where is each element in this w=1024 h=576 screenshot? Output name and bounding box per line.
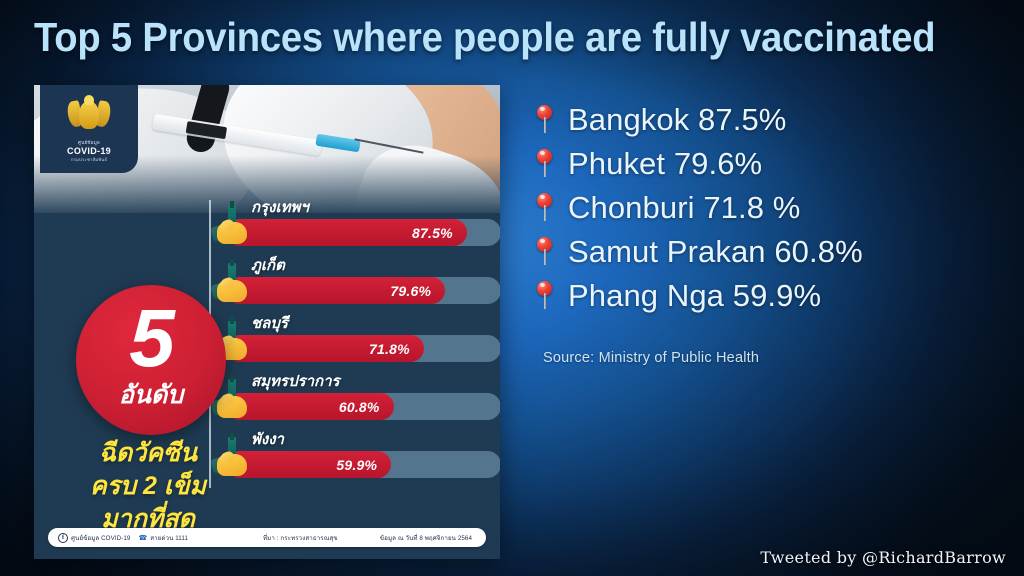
footer-hotline: สายด่วน 1111 (150, 533, 188, 543)
hand-syringe-icon (215, 205, 249, 249)
bar-value-label: 71.8% (369, 341, 424, 357)
bar-row: ภูเก็ต 79.6% (219, 255, 500, 313)
bar-row: สมุทรปราการ 60.8% (219, 371, 500, 429)
watermark-credit: Tweeted by @RichardBarrow (760, 548, 1006, 567)
list-item: Samut Prakan 60.8% (533, 230, 1013, 274)
round-pushpin-icon (533, 191, 559, 225)
list-item: Chonburi 71.8 % (533, 186, 1013, 230)
round-pushpin-icon (533, 147, 559, 181)
bar-category-label: กรุงเทพฯ (251, 195, 309, 219)
garuda-emblem-icon (68, 95, 110, 137)
bar-track: 79.6% (227, 277, 500, 304)
bar-fill: 59.9% (227, 451, 391, 478)
round-pushpin-icon (533, 103, 559, 137)
source-note: Source: Ministry of Public Health (543, 350, 759, 366)
bar-value-label: 87.5% (412, 225, 467, 241)
headline-line-2: ครบ 2 เข็ม (60, 470, 236, 503)
list-item-label: Phuket 79.6% (568, 146, 762, 182)
bar-chart: กรุงเทพฯ 87.5% ภูเก็ต 79.6% (219, 197, 500, 487)
list-item: Bangkok 87.5% (533, 98, 1013, 142)
bar-fill: 87.5% (227, 219, 467, 246)
page-title: Top 5 Provinces where people are fully v… (34, 16, 918, 59)
phone-icon: ☎ (138, 534, 147, 542)
list-item: Phang Nga 59.9% (533, 274, 1013, 318)
bar-row: ชลบุรี 71.8% (219, 313, 500, 371)
logo-line-2: COVID-19 (67, 147, 111, 157)
bar-fill: 79.6% (227, 277, 445, 304)
bar-fill: 60.8% (227, 393, 394, 420)
bar-value-label: 79.6% (390, 283, 445, 299)
headline-line-1: ฉีดวัคซีน (60, 437, 236, 470)
bar-track: 59.9% (227, 451, 500, 478)
province-list: Bangkok 87.5% Phuket 79.6% Chonburi 71.8… (533, 98, 1013, 318)
list-item-label: Phang Nga 59.9% (568, 278, 821, 314)
bar-row: กรุงเทพฯ 87.5% (219, 197, 500, 255)
footer-channel: ศูนย์ข้อมูล COVID-19 (71, 533, 130, 543)
bar-row: พังงา 59.9% (219, 429, 500, 487)
card-footer: f ศูนย์ข้อมูล COVID-19 ☎ สายด่วน 1111 ที… (48, 528, 486, 547)
footer-date: ข้อมูล ณ วันที่ 8 พฤศจิกายน 2564 (380, 533, 472, 543)
bar-category-label: พังงา (251, 427, 284, 451)
list-item-label: Bangkok 87.5% (568, 102, 786, 138)
bar-track: 60.8% (227, 393, 500, 420)
bar-track: 87.5% (227, 219, 500, 246)
hand-syringe-icon (215, 263, 249, 307)
infographic-canvas: Top 5 Provinces where people are fully v… (0, 0, 1024, 576)
bar-track: 71.8% (227, 335, 500, 362)
headline-block: ฉีดวัคซีน ครบ 2 เข็ม มากที่สุด (60, 437, 236, 536)
list-item-label: Samut Prakan 60.8% (568, 234, 863, 270)
round-pushpin-icon (533, 279, 559, 313)
list-item: Phuket 79.6% (533, 142, 1013, 186)
covid-info-center-logo: ศูนย์ข้อมูล COVID-19 กรมประชาสัมพันธ์ (40, 85, 138, 173)
bar-fill: 71.8% (227, 335, 424, 362)
footer-source: ที่มา : กระทรวงสาธารณสุข (263, 533, 338, 543)
facebook-icon: f (58, 533, 68, 543)
bar-value-label: 59.9% (336, 457, 391, 473)
logo-line-3: กรมประชาสัมพันธ์ (71, 156, 107, 163)
bar-category-label: สมุทรปราการ (251, 369, 340, 393)
rank-badge-subtitle: อันดับ (119, 375, 183, 415)
bar-value-label: 60.8% (339, 399, 394, 415)
bar-category-label: ภูเก็ต (251, 253, 285, 277)
rank-badge: 5 อันดับ (76, 285, 226, 435)
round-pushpin-icon (533, 235, 559, 269)
bar-category-label: ชลบุรี (251, 311, 288, 335)
infographic-card: ศูนย์ข้อมูล COVID-19 กรมประชาสัมพันธ์ 5 … (34, 85, 500, 559)
rank-badge-number: 5 (129, 305, 173, 372)
list-item-label: Chonburi 71.8 % (568, 190, 800, 226)
